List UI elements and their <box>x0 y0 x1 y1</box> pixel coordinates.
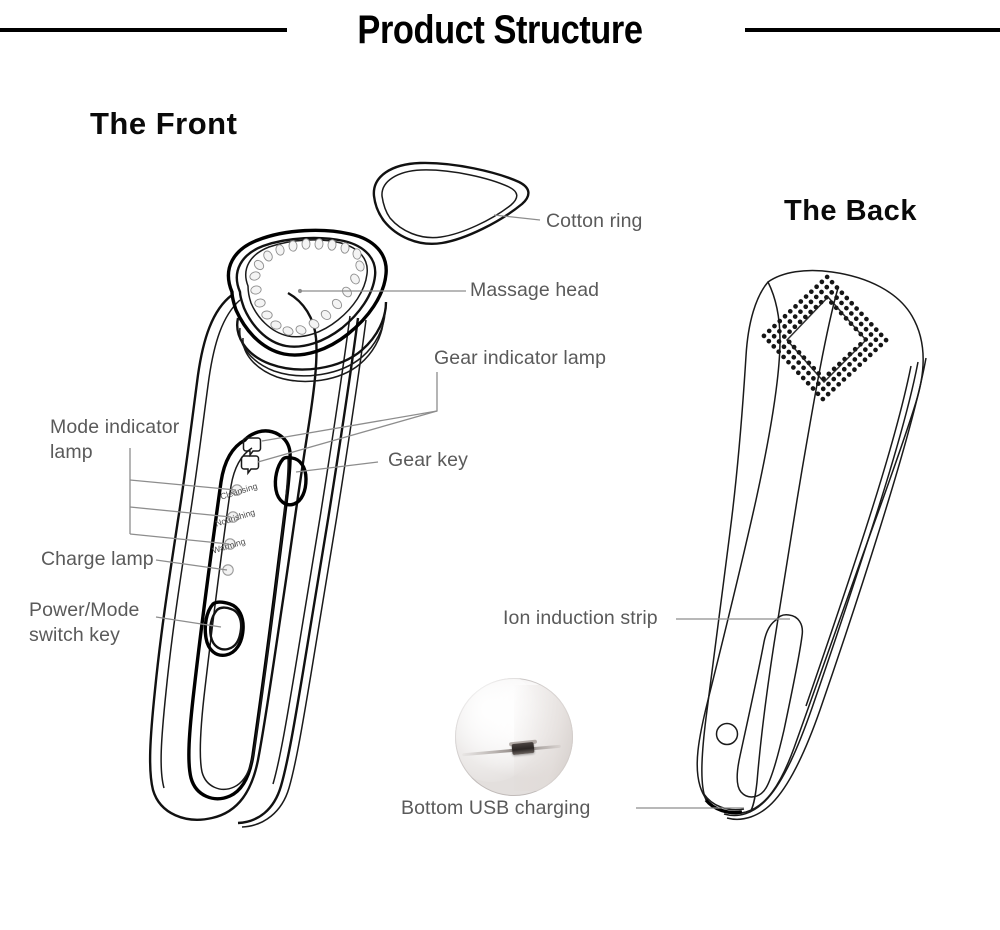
callout-power-mode-line2: switch key <box>29 623 120 648</box>
power-mode-switch-key <box>205 602 243 655</box>
callout-massage-head: Massage head <box>470 278 599 303</box>
callout-ion-induction-strip: Ion induction strip <box>503 606 658 631</box>
callout-power-mode-line1: Power/Mode <box>29 598 139 623</box>
callout-bottom-usb-charging: Bottom USB charging <box>401 796 590 821</box>
callout-gear-key: Gear key <box>388 448 468 473</box>
gear-indicator-icons <box>242 438 261 473</box>
callout-cotton-ring: Cotton ring <box>546 209 643 234</box>
product-structure-diagram: Product Structure The Front The Back <box>0 0 1000 930</box>
back-device-drawing <box>697 270 926 819</box>
callout-mode-indicator-lamp-line2: lamp <box>50 440 93 465</box>
cotton-ring-shape <box>374 163 529 244</box>
photo-edge-shadow <box>514 685 573 791</box>
usb-charging-photo-inset <box>455 678 573 796</box>
back-round-port <box>717 724 738 745</box>
callout-mode-indicator-lamp-line1: Mode indicator <box>50 415 179 440</box>
callout-gear-indicator-lamp: Gear indicator lamp <box>434 346 606 371</box>
callout-charge-lamp: Charge lamp <box>41 547 154 572</box>
